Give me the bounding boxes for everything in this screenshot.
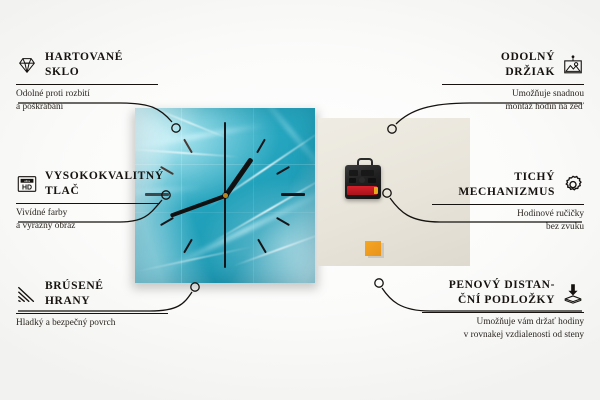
feature-desc-line2: bez zvuku	[432, 221, 584, 234]
feature-durable-hanger: ODOLNÝ DRŽIAK Umožňuje snadnou montáž ho…	[434, 50, 584, 114]
feature-desc-line2: a poškrábání	[16, 101, 158, 114]
clock-tick	[224, 122, 226, 194]
feature-title-line1: PENOVÝ DISTAN-	[449, 278, 555, 293]
feature-high-quality-print: ultra HD VYSOKOKVALITNÝ TLAČ Vivídné far…	[16, 169, 168, 233]
clock-center-pivot	[223, 193, 228, 198]
feature-ground-edges: BRÚSENÉ HRANY Hladký a bezpečný povrch	[16, 279, 176, 330]
aa-battery	[347, 186, 377, 195]
clock-tick	[224, 196, 226, 268]
diamond-icon	[16, 54, 38, 76]
feature-desc-line1: Hladký a bezpečný povrch	[16, 317, 168, 330]
feature-title-line2: ČNÍ PODLOŽKY	[449, 293, 555, 308]
feature-desc-line1: Hodinové ručičky	[432, 208, 584, 221]
feature-tempered-glass: HARTOVANÉ SKLO Odolné proti rozbití a po…	[16, 50, 166, 114]
feature-title-line2: TLAČ	[45, 184, 164, 199]
feature-title-line2: SKLO	[45, 65, 123, 80]
feature-desc-line1: Odolné proti rozbití	[16, 88, 158, 101]
gear-icon	[562, 174, 584, 196]
battery-positive-tip	[374, 187, 378, 194]
feature-desc-line2: v rovnakej vzdialenosti od steny	[422, 329, 584, 342]
svg-text:HD: HD	[22, 185, 32, 192]
wall-hanger-frame-icon	[562, 54, 584, 76]
feature-desc-line1: Umožňuje snadnou	[442, 88, 584, 101]
feature-title-line1: VYSOKOKVALITNÝ	[45, 169, 164, 184]
feature-title-line1: TICHÝ	[458, 170, 555, 185]
feature-title-line1: ODOLNÝ	[501, 50, 555, 65]
feature-title-line2: HRANY	[45, 294, 104, 309]
feature-title-line1: HARTOVANÉ	[45, 50, 123, 65]
feature-title-line2: DRŽIAK	[501, 65, 555, 80]
ground-edges-icon	[16, 283, 38, 305]
feature-foam-spacers: PENOVÝ DISTAN- ČNÍ PODLOŽKY Umožňuje vám…	[414, 278, 584, 342]
down-arrow-pad-icon	[562, 282, 584, 304]
ultra-hd-icon: ultra HD	[16, 173, 38, 195]
feature-desc-line1: Vivídné farby	[16, 207, 160, 220]
svg-text:ultra: ultra	[24, 179, 30, 183]
feature-desc-line1: Umožňuje vám držať hodiny	[422, 316, 584, 329]
clock-tick	[281, 193, 305, 196]
feature-title-line1: BRÚSENÉ	[45, 279, 104, 294]
feature-desc-line2: a výrazný obraz	[16, 220, 160, 233]
feature-title-line2: MECHANIZMUS	[458, 185, 555, 200]
product-infographic: HARTOVANÉ SKLO Odolné proti rozbití a po…	[0, 0, 600, 400]
feature-desc-line2: montáž hodin na zeď	[442, 101, 584, 114]
feature-silent-mechanism: TICHÝ MECHANIZMUS Hodinové ručičky bez z…	[424, 170, 584, 234]
foam-spacer-pad	[365, 241, 381, 256]
